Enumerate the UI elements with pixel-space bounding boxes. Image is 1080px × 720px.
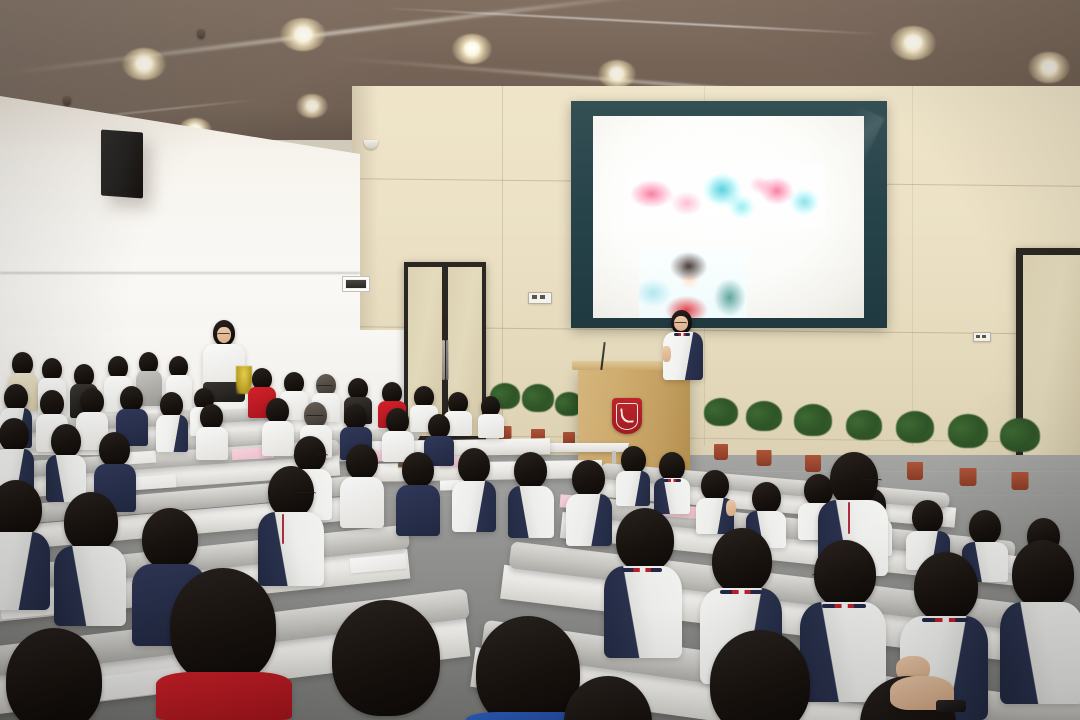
potted-plant: [1002, 426, 1038, 490]
sprinkler-icon: [197, 29, 205, 39]
glasses-icon: [217, 333, 230, 337]
audience-member: [0, 480, 50, 610]
presenter-student: [661, 310, 705, 380]
audience-member: [1000, 540, 1080, 704]
downlight: [122, 48, 166, 80]
glasses-icon: [860, 479, 882, 483]
glasses-icon: [314, 454, 328, 458]
potted-plant: [706, 404, 736, 460]
audience-member: [616, 446, 650, 506]
glasses-icon: [296, 492, 316, 496]
potted-plant: [950, 422, 986, 486]
audience-member-foreground: [320, 600, 454, 720]
audience-member: [396, 452, 440, 536]
light-switch-panel[interactable]: [528, 292, 552, 304]
audience-member: [604, 508, 682, 658]
school-emblem: [612, 398, 642, 434]
door-handle[interactable]: [446, 340, 449, 380]
lanyard: [282, 514, 284, 544]
wall-loudspeaker: [101, 130, 143, 199]
lanyard: [848, 502, 850, 534]
audience-member: [508, 452, 554, 538]
audience-member: [478, 396, 504, 438]
downlight: [890, 26, 936, 60]
glasses-icon: [812, 574, 828, 578]
audience-member: [196, 404, 228, 460]
sprinkler-icon: [63, 96, 71, 106]
audience-member: [54, 492, 126, 626]
audience-member: [46, 424, 86, 502]
potted-plant: [523, 390, 553, 444]
glasses-icon: [674, 322, 687, 326]
projection-screen-surface: [593, 116, 864, 318]
audience-member-foreground: [0, 628, 120, 720]
potted-plant: [748, 408, 780, 466]
audience-member-foreground: [556, 676, 666, 720]
audience-member: [696, 470, 734, 534]
lecture-hall-photo: [0, 0, 1080, 720]
wristwatch: [936, 700, 966, 712]
audience-member: [452, 448, 496, 532]
projection-screen: [571, 101, 887, 328]
downlight: [598, 60, 636, 88]
audience-member-foreground: [156, 568, 292, 720]
glasses-icon: [317, 385, 333, 389]
downlight: [280, 18, 326, 51]
potted-plant: [898, 418, 932, 480]
downlight: [296, 94, 328, 118]
light-switch-panel[interactable]: [973, 332, 991, 342]
downlight: [452, 34, 492, 64]
downlight: [1028, 52, 1070, 83]
audience-member-foreground: [700, 630, 826, 720]
door-handle[interactable]: [442, 340, 445, 380]
audience-member: [156, 392, 188, 452]
air-vent-grille: [342, 276, 370, 292]
audience-member: [654, 452, 690, 514]
glasses-icon: [306, 415, 324, 419]
audience-member: [340, 444, 384, 528]
